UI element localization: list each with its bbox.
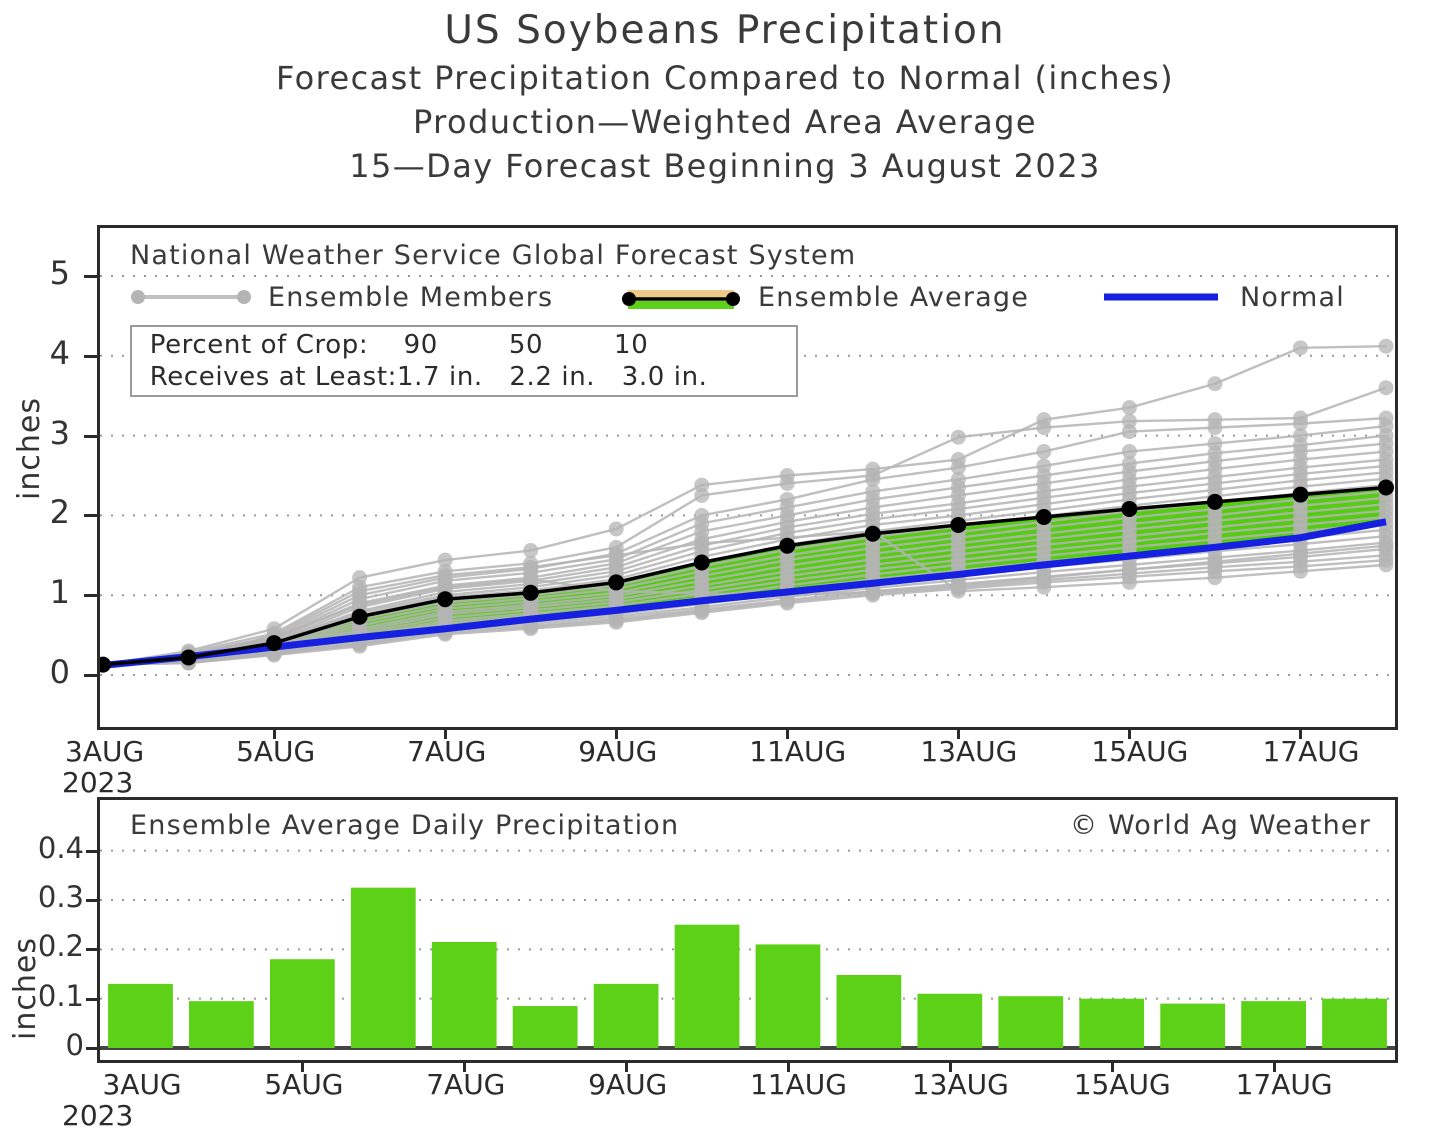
ensemble-average-point bbox=[181, 649, 197, 665]
main-x-tick-9AUG: 9AUG bbox=[578, 735, 657, 768]
ensemble-average-point bbox=[437, 591, 453, 607]
daily-x-tick-17AUG: 17AUG bbox=[1236, 1068, 1333, 1101]
ensemble-member-point bbox=[951, 430, 966, 445]
subtitle-line-3: 15—Day Forecast Beginning 3 August 2023 bbox=[0, 144, 1450, 188]
ensemble-average-point bbox=[865, 526, 881, 542]
percent-of-crop-row: Percent of Crop: 90 50 10 bbox=[132, 330, 796, 360]
ensemble-average-point bbox=[266, 635, 282, 651]
daily-bar bbox=[917, 994, 982, 1048]
daily-chart-title: Ensemble Average Daily Precipitation bbox=[130, 810, 679, 841]
main-x-tick-15AUG: 15AUG bbox=[1091, 735, 1188, 768]
daily-bar bbox=[756, 944, 821, 1048]
ensemble-member-point bbox=[1036, 570, 1051, 585]
ensemble-member-point bbox=[694, 605, 709, 620]
daily-x-tick-9AUG: 9AUG bbox=[588, 1068, 667, 1101]
main-x-tick-17AUG: 17AUG bbox=[1262, 735, 1359, 768]
main-y-tick-1: 1 bbox=[18, 573, 70, 611]
daily-x-tick-15AUG: 15AUG bbox=[1074, 1068, 1171, 1101]
daily-y-tick-0: 0 bbox=[0, 1028, 84, 1062]
ensemble-member-point bbox=[1207, 420, 1222, 435]
subtitle-line-1: Forecast Precipitation Compared to Norma… bbox=[0, 56, 1450, 100]
daily-x-tick-5AUG: 5AUG bbox=[264, 1068, 343, 1101]
daily-bar bbox=[594, 984, 659, 1048]
daily-bar bbox=[189, 1001, 254, 1048]
ensemble-member-point bbox=[780, 476, 795, 491]
main-x-tick-7AUG: 7AUG bbox=[407, 735, 486, 768]
daily-bar bbox=[432, 942, 497, 1048]
main-x-tick-11AUG: 11AUG bbox=[749, 735, 846, 768]
main-y-tick-mark bbox=[84, 594, 97, 597]
main-x-tick-13AUG: 13AUG bbox=[920, 735, 1017, 768]
daily-bar bbox=[837, 975, 902, 1048]
copyright-label: © World Ag Weather bbox=[1070, 810, 1371, 841]
percent-of-crop-table: Percent of Crop: 90 50 10 Receives at Le… bbox=[130, 325, 798, 397]
main-y-tick-0: 0 bbox=[18, 653, 70, 691]
legend-header: National Weather Service Global Forecast… bbox=[130, 240, 856, 271]
daily-x-tick-11AUG: 11AUG bbox=[750, 1068, 847, 1101]
ensemble-average-point bbox=[1378, 479, 1394, 495]
ensemble-average-point bbox=[608, 574, 624, 590]
daily-y-tick-0.4: 0.4 bbox=[0, 831, 84, 865]
daily-x-tick-7AUG: 7AUG bbox=[426, 1068, 505, 1101]
main-y-tick-3: 3 bbox=[18, 414, 70, 452]
ensemble-member-point bbox=[694, 488, 709, 503]
main-y-tick-4: 4 bbox=[18, 334, 70, 372]
legend-label-ensemble-members: Ensemble Members bbox=[268, 282, 553, 313]
ensemble-member-point bbox=[1207, 570, 1222, 585]
ensemble-member-point bbox=[1379, 557, 1394, 572]
ensemble-member-point bbox=[1122, 424, 1137, 439]
ensemble-average-point bbox=[779, 538, 795, 554]
ensemble-member-point bbox=[609, 548, 624, 563]
ensemble-member-point bbox=[523, 543, 538, 558]
cumulative-precipitation-chart: National Weather Service Global Forecast… bbox=[97, 225, 1398, 730]
daily-bar bbox=[351, 888, 416, 1048]
ensemble-average-point bbox=[1207, 494, 1223, 510]
daily-bar bbox=[1241, 1001, 1306, 1048]
main-x-tick-3AUG: 3AUG bbox=[65, 735, 144, 768]
ensemble-member-point bbox=[951, 578, 966, 593]
ensemble-member-point bbox=[1379, 339, 1394, 354]
ensemble-average-point bbox=[694, 554, 710, 570]
daily-bar bbox=[1079, 999, 1144, 1048]
daily-x-tick-13AUG: 13AUG bbox=[912, 1068, 1009, 1101]
ensemble-member-point bbox=[1379, 538, 1394, 553]
ensemble-member-point bbox=[1207, 376, 1222, 391]
daily-y-tick-0.3: 0.3 bbox=[0, 880, 84, 914]
ensemble-average-point bbox=[523, 585, 539, 601]
ensemble-average-point bbox=[100, 657, 111, 673]
main-y-tick-2: 2 bbox=[18, 493, 70, 531]
daily-y-tick-0.2: 0.2 bbox=[0, 929, 84, 963]
ensemble-member-point bbox=[523, 621, 538, 636]
receives-at-least-row: Receives at Least:1.7 in. 2.2 in. 3.0 in… bbox=[132, 362, 796, 392]
ensemble-member-point bbox=[609, 521, 624, 536]
ensemble-average-point bbox=[950, 517, 966, 533]
ensemble-average-point bbox=[1036, 509, 1052, 525]
daily-bar bbox=[675, 925, 740, 1048]
main-x-tick-5AUG: 5AUG bbox=[236, 735, 315, 768]
main-y-tick-mark bbox=[84, 674, 97, 677]
daily-bar bbox=[513, 1006, 578, 1048]
ensemble-member-point bbox=[694, 536, 709, 551]
ensemble-average-point bbox=[1121, 501, 1137, 517]
daily-bar bbox=[998, 996, 1063, 1048]
main-y-tick-mark bbox=[84, 355, 97, 358]
subtitle-line-2: Production—Weighted Area Average bbox=[0, 100, 1450, 144]
daily-y-tick-0.1: 0.1 bbox=[0, 979, 84, 1013]
ensemble-average-point bbox=[1292, 487, 1308, 503]
ensemble-member-point bbox=[1122, 400, 1137, 415]
normal-swatch-icon bbox=[1100, 288, 1222, 306]
ensemble-member-point bbox=[1122, 562, 1137, 577]
ensemble-member-point bbox=[1379, 380, 1394, 395]
chart-page: US Soybeans Precipitation Forecast Preci… bbox=[0, 0, 1450, 1133]
daily-precipitation-chart: Ensemble Average Daily Precipitation © W… bbox=[97, 797, 1398, 1063]
daily-bar bbox=[270, 959, 335, 1048]
ensemble-members-swatch-icon bbox=[130, 288, 252, 306]
legend-label-normal: Normal bbox=[1240, 282, 1345, 313]
daily-x-tick-3AUG: 3AUG bbox=[102, 1068, 181, 1101]
ensemble-member-point bbox=[1293, 564, 1308, 579]
main-y-tick-mark bbox=[84, 435, 97, 438]
ensemble-average-swatch-icon bbox=[620, 288, 742, 310]
ensemble-average-point bbox=[352, 609, 368, 625]
ensemble-member-point bbox=[1293, 546, 1308, 561]
title-block: US Soybeans Precipitation Forecast Preci… bbox=[0, 6, 1450, 188]
ensemble-member-point bbox=[1207, 554, 1222, 569]
page-title: US Soybeans Precipitation bbox=[0, 6, 1450, 56]
ensemble-member-point bbox=[1293, 340, 1308, 355]
ensemble-member-point bbox=[1122, 575, 1137, 590]
daily-bar bbox=[1322, 999, 1387, 1048]
ensemble-member-point bbox=[523, 572, 538, 587]
ensemble-member-point bbox=[609, 615, 624, 630]
ensemble-member-point bbox=[352, 584, 367, 599]
main-x-axis-year: 2023 bbox=[62, 766, 133, 799]
daily-bar bbox=[1160, 1004, 1225, 1048]
main-y-tick-5: 5 bbox=[18, 254, 70, 292]
main-y-tick-mark bbox=[84, 275, 97, 278]
daily-bar bbox=[108, 984, 173, 1048]
main-y-tick-mark bbox=[84, 514, 97, 517]
ensemble-member-point bbox=[1036, 420, 1051, 435]
legend-label-ensemble-average: Ensemble Average bbox=[758, 282, 1029, 313]
daily-x-axis-year: 2023 bbox=[62, 1099, 133, 1132]
ensemble-member-point bbox=[1036, 444, 1051, 459]
